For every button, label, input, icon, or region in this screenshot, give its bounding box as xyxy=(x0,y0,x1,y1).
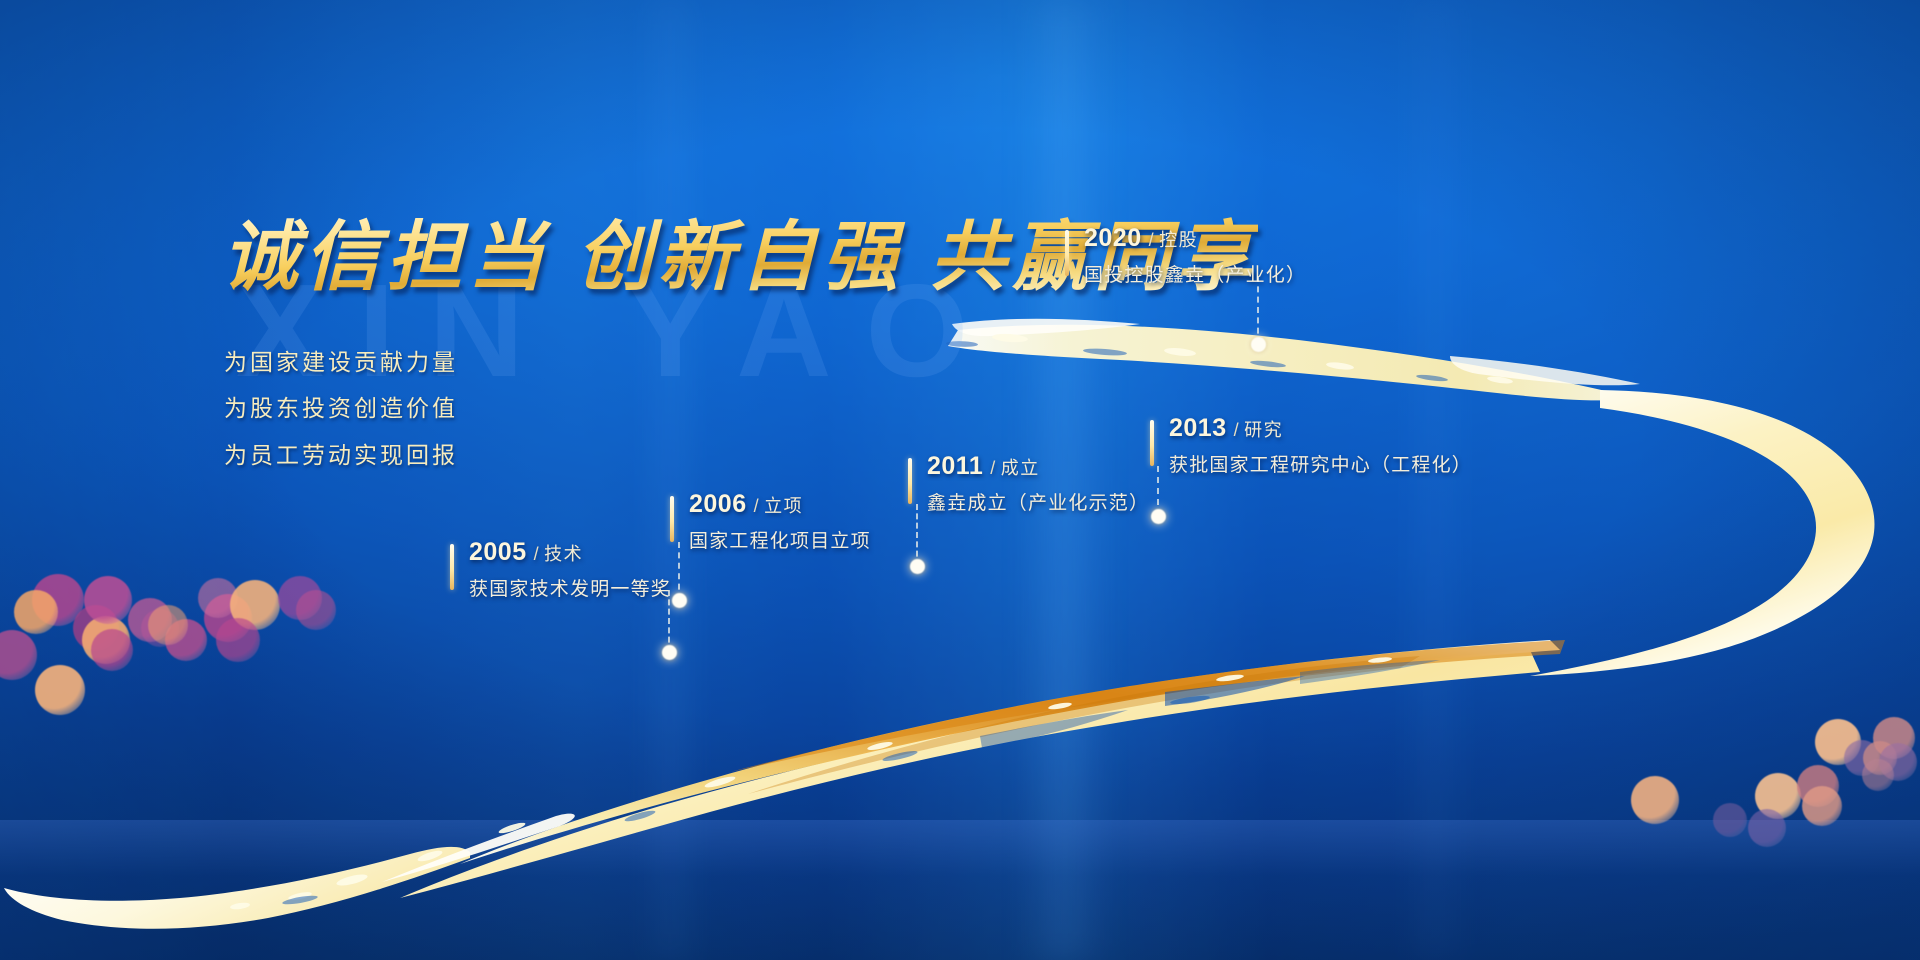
banner-canvas: XIN YAO 诚信担当创新自强共赢同享 为国家建设贡献力量 为股东投资创造价值… xyxy=(0,0,1920,960)
timeline-year-row: 2013/研究 xyxy=(1169,414,1283,443)
bokeh-right-circle xyxy=(1713,803,1747,837)
timeline-tag: 立项 xyxy=(764,496,803,516)
bokeh-right-circle xyxy=(1631,776,1679,824)
timeline-description: 国投控股鑫垚（产业化） xyxy=(1084,260,1306,287)
timeline-marker-bar xyxy=(670,496,674,542)
timeline-year: 2011 xyxy=(927,452,983,480)
timeline-connector-2011 xyxy=(916,504,918,566)
timeline-year-row: 2005/技术 xyxy=(469,538,583,567)
timeline-connector-2005 xyxy=(668,590,670,652)
bokeh-right-circle xyxy=(1802,786,1842,826)
timeline-separator: / xyxy=(534,544,540,564)
timeline-marker-bar xyxy=(450,544,454,590)
subline-1: 为国家建设贡献力量 xyxy=(224,343,458,377)
timeline-separator: / xyxy=(1149,230,1155,250)
timeline-tag: 研究 xyxy=(1244,420,1283,440)
timeline-connector-2020 xyxy=(1257,276,1259,344)
timeline-connector-2006 xyxy=(678,542,680,600)
bokeh-left-circle xyxy=(84,576,132,624)
timeline-node-dot-2013[interactable] xyxy=(1151,509,1166,524)
bokeh-left-circle xyxy=(296,590,336,630)
bokeh-right-circle xyxy=(1748,809,1786,847)
timeline-tag: 控股 xyxy=(1159,230,1198,250)
bokeh-left-circle xyxy=(91,629,133,671)
timeline-node-dot-2005[interactable] xyxy=(662,645,677,660)
timeline-year: 2005 xyxy=(469,538,527,566)
timeline-year-row: 2011/成立 xyxy=(927,452,1040,481)
timeline-year-row: 2020/控股 xyxy=(1084,224,1198,253)
timeline-node-dot-2020[interactable] xyxy=(1251,337,1266,352)
subline-3: 为员工劳动实现回报 xyxy=(224,436,458,470)
bokeh-left-circle xyxy=(148,605,188,645)
timeline-year-row: 2006/立项 xyxy=(689,490,803,519)
timeline-separator: / xyxy=(990,458,996,478)
timeline-description: 获国家技术发明一等奖 xyxy=(469,574,671,601)
timeline-node-dot-2006[interactable] xyxy=(672,593,687,608)
background-lower-band xyxy=(0,820,1920,960)
timeline-year: 2020 xyxy=(1084,224,1142,252)
timeline-separator: / xyxy=(1234,420,1240,440)
bokeh-left-circle xyxy=(216,618,260,662)
timeline-node-dot-2011[interactable] xyxy=(910,559,925,574)
timeline-description: 国家工程化项目立项 xyxy=(689,526,871,553)
headline-part-2: 创新自强 xyxy=(576,212,904,301)
timeline-marker-bar xyxy=(1150,420,1154,466)
bokeh-right-circle xyxy=(1862,759,1894,791)
timeline-tag: 成立 xyxy=(1001,458,1040,478)
timeline-marker-bar xyxy=(908,458,912,504)
bokeh-left-circle xyxy=(35,665,85,715)
subline-2: 为股东投资创造价值 xyxy=(224,389,458,423)
bokeh-left-circle xyxy=(14,590,58,634)
headline-part-1: 诚信担当 xyxy=(222,212,550,301)
timeline-year: 2006 xyxy=(689,490,747,518)
timeline-year: 2013 xyxy=(1169,414,1227,442)
timeline-description: 获批国家工程研究中心（工程化） xyxy=(1169,450,1472,477)
timeline-tag: 技术 xyxy=(544,544,583,564)
timeline-marker-bar xyxy=(1065,230,1069,276)
timeline-separator: / xyxy=(754,496,760,516)
timeline-description: 鑫垚成立（产业化示范） xyxy=(927,488,1149,515)
